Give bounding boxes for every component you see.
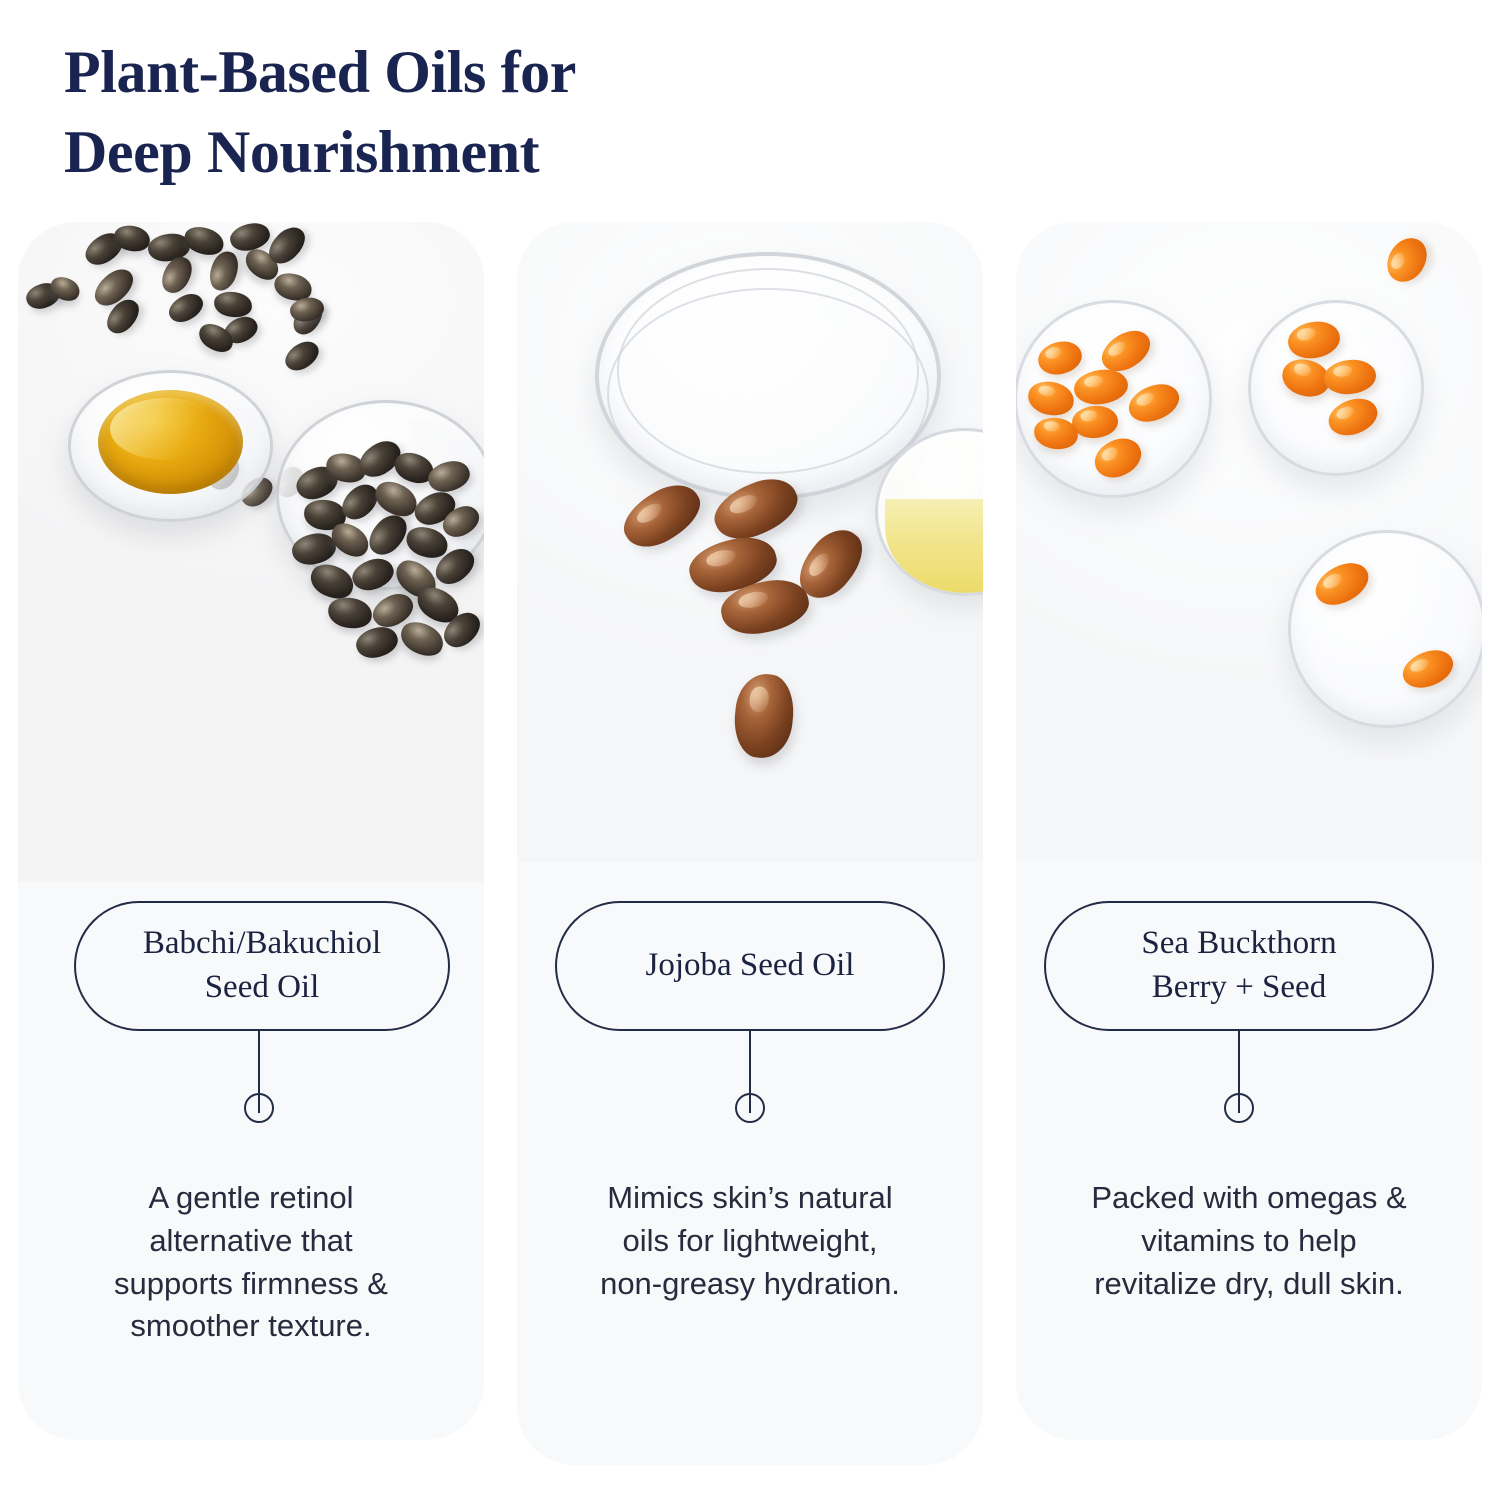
ingredient-description-jojoba: Mimics skin’s natural oils for lightweig… [533, 1177, 967, 1305]
ingredient-card-babchi: Babchi/Bakuchiol Seed Oil A gentle retin… [18, 222, 484, 1440]
jojoba-seeds-and-petri-dish-image [517, 222, 983, 862]
sea-buckthorn-berries-image [1016, 222, 1482, 862]
glass-dish [1288, 530, 1482, 728]
petri-dish-base-rim [607, 288, 929, 500]
ingredient-description-babchi: A gentle retinol alternative that suppor… [34, 1177, 468, 1348]
ingredient-label-text: Sea Buckthorn Berry + Seed [1141, 922, 1336, 1010]
ingredient-description-sea-buckthorn: Packed with omegas & vitamins to help re… [1028, 1177, 1470, 1305]
ingredient-label-text: Babchi/Bakuchiol Seed Oil [143, 922, 381, 1010]
babchi-seeds-and-oil-bowl-image [18, 222, 484, 882]
connector-node [1224, 1093, 1254, 1123]
oil-sheen [110, 398, 222, 460]
connector-node [244, 1093, 274, 1123]
ingredient-card-jojoba: Jojoba Seed Oil Mimics skin’s natural oi… [517, 222, 983, 1465]
ingredient-label-babchi[interactable]: Babchi/Bakuchiol Seed Oil [74, 901, 450, 1031]
ingredient-panels: Babchi/Bakuchiol Seed Oil A gentle retin… [0, 0, 1500, 1500]
ingredient-label-text: Jojoba Seed Oil [646, 944, 855, 988]
connector-node [735, 1093, 765, 1123]
ingredient-label-jojoba[interactable]: Jojoba Seed Oil [555, 901, 945, 1031]
ingredient-card-sea-buckthorn: Sea Buckthorn Berry + Seed Packed with o… [1016, 222, 1482, 1440]
ingredient-label-sea-buckthorn[interactable]: Sea Buckthorn Berry + Seed [1044, 901, 1434, 1031]
